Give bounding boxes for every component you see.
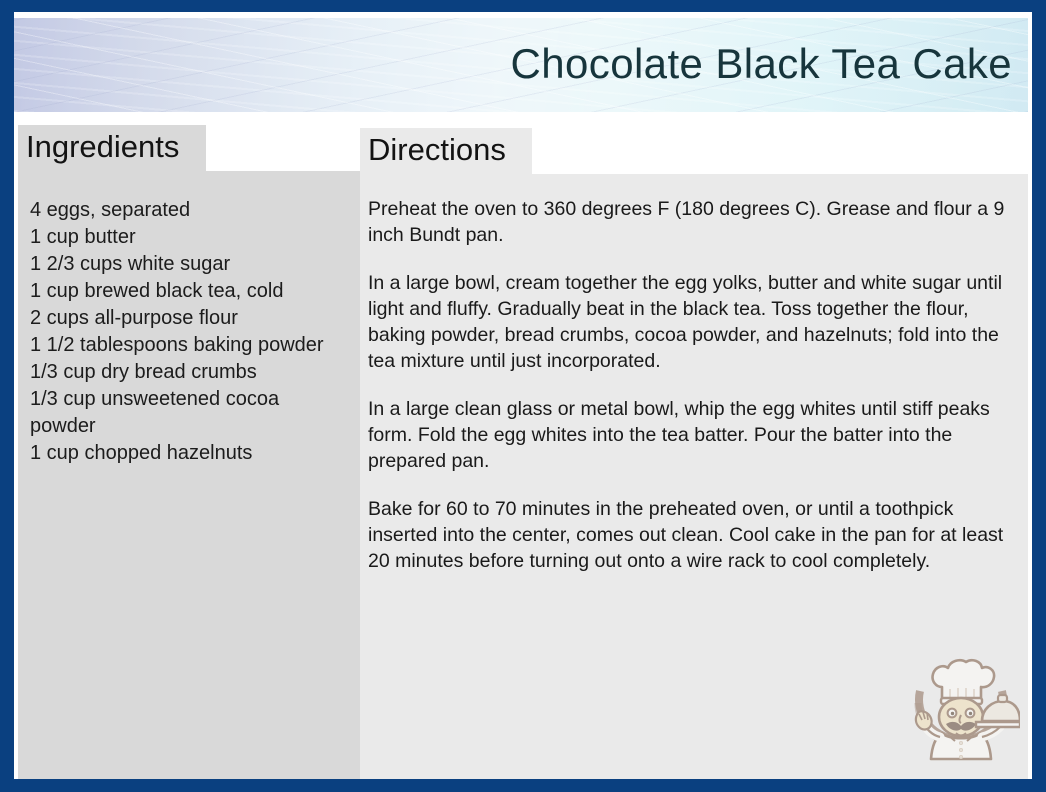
list-item: 1 cup butter [30, 224, 350, 251]
recipe-card: Chocolate Black Tea Cake [0, 0, 1046, 792]
direction-paragraph: In a large clean glass or metal bowl, wh… [368, 396, 1006, 474]
direction-paragraph: Preheat the oven to 360 degrees F (180 d… [368, 196, 1006, 248]
directions-text: Preheat the oven to 360 degrees F (180 d… [360, 174, 1028, 574]
page-title: Chocolate Black Tea Cake [511, 40, 1012, 88]
list-item: 1 cup chopped hazelnuts [30, 440, 350, 467]
list-item: 1 1/2 tablespoons baking powder [30, 332, 350, 359]
list-item: 1 2/3 cups white sugar [30, 251, 350, 278]
ingredients-list: 4 eggs, separated 1 cup butter 1 2/3 cup… [18, 171, 360, 467]
directions-heading: Directions [360, 128, 532, 174]
list-item: 2 cups all-purpose flour [30, 305, 350, 332]
list-item: 4 eggs, separated [30, 197, 350, 224]
list-item: 1/3 cup dry bread crumbs [30, 359, 350, 386]
directions-panel: Preheat the oven to 360 degrees F (180 d… [360, 174, 1028, 779]
direction-paragraph: In a large bowl, cream together the egg … [368, 270, 1006, 374]
list-item: 1/3 cup unsweetened cocoa powder [30, 386, 350, 440]
ingredients-column: Ingredients 4 eggs, separated 1 cup butt… [18, 125, 360, 779]
directions-column: Directions Preheat the oven to 360 degre… [360, 128, 1028, 779]
header-banner: Chocolate Black Tea Cake [14, 18, 1028, 112]
ingredients-panel: 4 eggs, separated 1 cup butter 1 2/3 cup… [18, 171, 360, 779]
ingredients-heading: Ingredients [18, 125, 206, 171]
list-item: 1 cup brewed black tea, cold [30, 278, 350, 305]
recipe-page: Chocolate Black Tea Cake [14, 12, 1032, 779]
direction-paragraph: Bake for 60 to 70 minutes in the preheat… [368, 496, 1006, 574]
